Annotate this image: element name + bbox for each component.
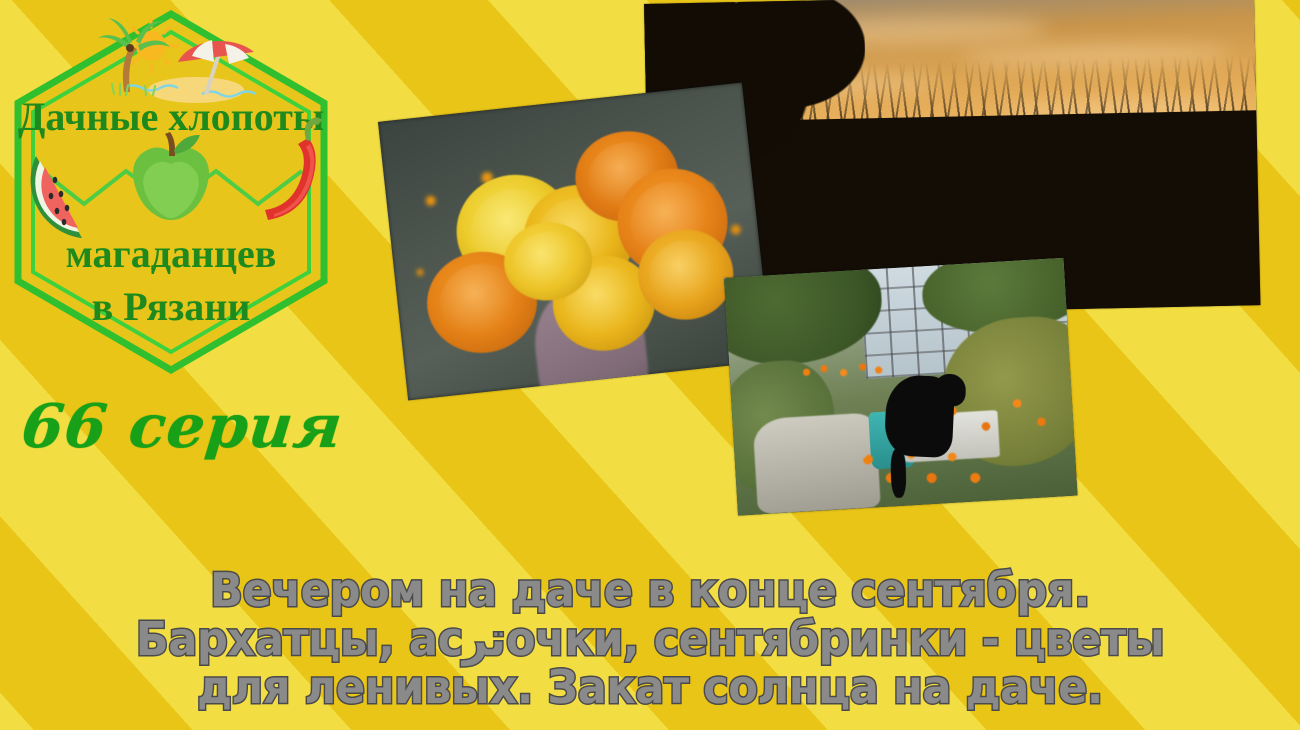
caption-line-3: для ленивых. Закат солнца на даче. (39, 663, 1261, 712)
poster-canvas: Дачные хлопоты (0, 0, 1300, 730)
photo-marigolds (378, 82, 772, 400)
logo-line-1: Дачные хлопоты (18, 94, 324, 139)
logo-line-2: магаданцев (66, 231, 277, 276)
logo-line-3: в Рязани (92, 284, 251, 329)
black-cat (884, 375, 956, 459)
episode-label: 66 серия (18, 392, 346, 462)
caption-line-1: Вечером на даче в конце сентября. (39, 566, 1261, 615)
caption-text: Вечером на даче в конце сентября. Бархат… (39, 566, 1261, 712)
logo-badge[interactable]: Дачные хлопоты (6, 8, 336, 376)
coconut-icon (126, 44, 134, 52)
photo-garden (724, 258, 1078, 516)
caption-line-2: Бархатцы, асترочки, сентябринки - цветы (39, 615, 1261, 664)
